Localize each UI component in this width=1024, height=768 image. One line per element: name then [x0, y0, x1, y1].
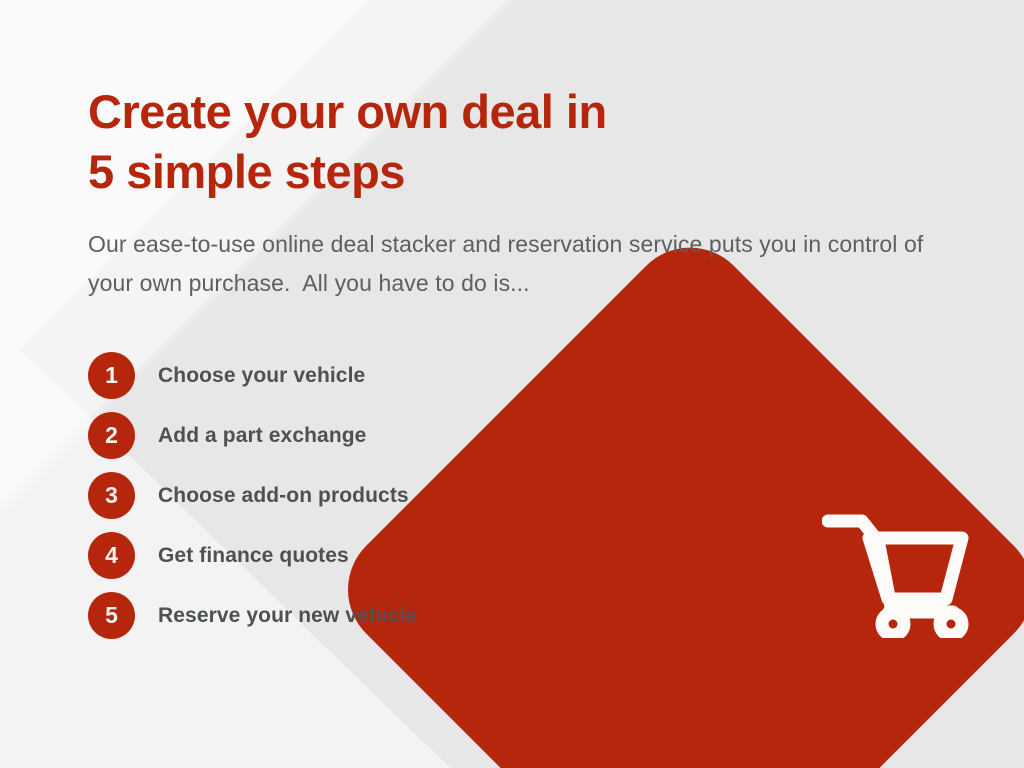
step-label: Choose add-on products	[158, 484, 409, 508]
list-item: 3 Choose add-on products	[88, 472, 648, 519]
step-number-badge: 4	[88, 532, 135, 579]
step-label: Get finance quotes	[158, 544, 349, 568]
headline-line-2: 5 simple steps	[88, 142, 788, 202]
page-title: Create your own deal in 5 simple steps	[88, 82, 788, 202]
step-number-badge: 3	[88, 472, 135, 519]
step-number-badge: 1	[88, 352, 135, 399]
slide-content: Create your own deal in 5 simple steps O…	[0, 0, 1024, 768]
subheading-text: Our ease-to-use online deal stacker and …	[88, 225, 938, 303]
step-label: Reserve your new vehicle	[158, 604, 417, 628]
step-label: Choose your vehicle	[158, 364, 365, 388]
list-item: 4 Get finance quotes	[88, 532, 648, 579]
list-item: 2 Add a part exchange	[88, 412, 648, 459]
step-label: Add a part exchange	[158, 424, 366, 448]
headline-line-1: Create your own deal in	[88, 82, 788, 142]
slide-canvas: Create your own deal in 5 simple steps O…	[0, 0, 1024, 768]
step-number-badge: 2	[88, 412, 135, 459]
step-number-badge: 5	[88, 592, 135, 639]
list-item: 1 Choose your vehicle	[88, 352, 648, 399]
list-item: 5 Reserve your new vehicle	[88, 592, 648, 639]
steps-list: 1 Choose your vehicle 2 Add a part excha…	[88, 352, 648, 652]
